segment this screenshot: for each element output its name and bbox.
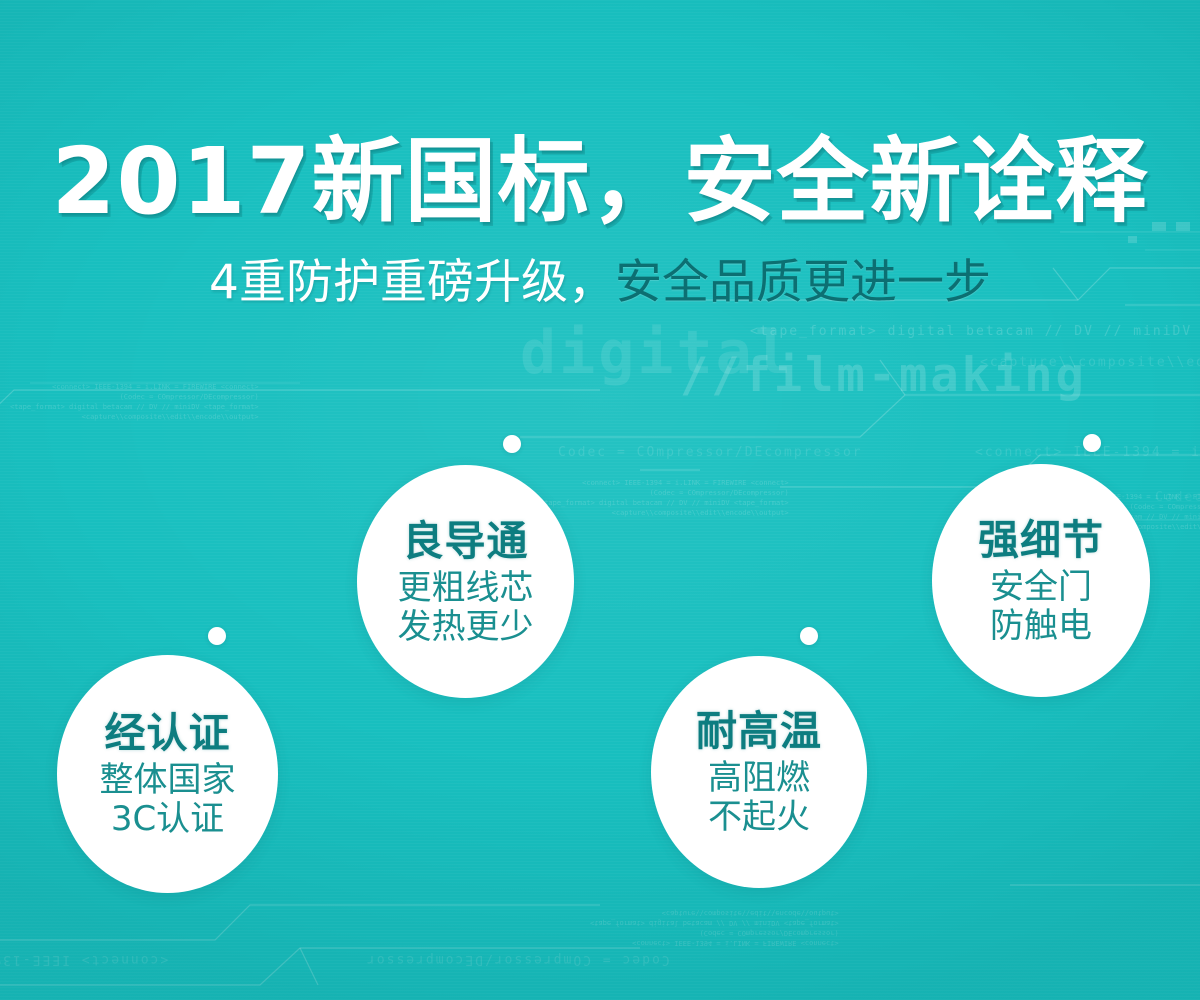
- headline-row: 2017新国标，安全新诠释: [0, 132, 1200, 232]
- feature-line-1: 安全门: [990, 568, 1092, 607]
- bgblock-center: <connect> IEEE-1394 = i.LINK = FIREWIRE …: [540, 478, 789, 518]
- feature-line-2: 不起火: [708, 798, 810, 837]
- feature-line-1: 整体国家: [100, 761, 236, 800]
- bgblock-line: <connect> IEEE-1394 = i.LINK = FIREWIRE …: [10, 382, 259, 392]
- bgblock-line: <tape_format> digital betacam // DV // m…: [540, 498, 789, 508]
- feature-title: 经认证: [105, 709, 231, 757]
- bgtext-capture: <capture\\composite\\edit>: [980, 355, 1200, 370]
- subtitle-row: 4重防护重磅升级，安全品质更进一步: [0, 254, 1200, 312]
- feature-bubble-certification[interactable]: 经认证 整体国家 3C认证: [57, 655, 278, 893]
- feature-line-1: 更粗线芯: [398, 569, 534, 608]
- feature-bubble-details[interactable]: 强细节 安全门 防触电: [932, 464, 1150, 697]
- bgblock-line: (Codec = COmpressor/DEcompressor): [540, 488, 789, 498]
- feature-dot-4: [1083, 434, 1101, 452]
- bgblock-line: <connect> IEEE-1394 = i.LINK = FIREWIRE …: [540, 478, 789, 488]
- feature-line-2: 发热更少: [398, 608, 534, 647]
- feature-dot-1: [208, 627, 226, 645]
- ghost-word-digital: digital: [520, 318, 794, 388]
- feature-title: 强细节: [978, 516, 1104, 564]
- bgblock-line: <connect> IEEE-1394 = i.LINK = FIREWIRE …: [590, 938, 839, 948]
- feature-title: 良导通: [403, 517, 529, 565]
- bgblock-line: (Codec = COmpressor/DEcompressor): [10, 392, 259, 402]
- bgtext-connect-mirrored: <connect> IEEE-1394 = i.LINK = FIREWIRE: [0, 952, 168, 967]
- feature-bubble-conductivity[interactable]: 良导通 更粗线芯 发热更少: [357, 465, 574, 698]
- bgblock-line: (Codec = COmpressor/DEcompressor): [590, 928, 839, 938]
- promo-banner: digital //film-making <tape_format> digi…: [0, 0, 1200, 1000]
- bgblock-top-left: <connect> IEEE-1394 = i.LINK = FIREWIRE …: [10, 382, 259, 422]
- subtitle-part-white: 4重防护重磅升级，: [209, 254, 615, 312]
- feature-dot-2: [503, 435, 521, 453]
- bgtext-codec-mirrored: Codec = COmpressor/DEcompressor: [365, 952, 670, 967]
- bgtext-codec: Codec = COmpressor/DEcompressor: [558, 445, 863, 460]
- page-title: 2017新国标，安全新诠释: [51, 132, 1148, 232]
- feature-dot-3: [800, 627, 818, 645]
- feature-line-2: 防触电: [990, 607, 1092, 646]
- ghost-word-film-making: //film-making: [680, 348, 1087, 403]
- bgblock-line: <capture\\composite\\edit\\encode\\outpu…: [10, 412, 259, 422]
- feature-bubble-heat-resistance[interactable]: 耐高温 高阻燃 不起火: [651, 656, 867, 888]
- bgblock-line: <tape_format> digital betacam // DV // m…: [10, 402, 259, 412]
- bgblock-line: <capture\\composite\\edit\\encode\\outpu…: [540, 508, 789, 518]
- bgtext-tape-format: <tape_format> digital betacam // DV // m…: [750, 324, 1192, 339]
- feature-title: 耐高温: [696, 707, 822, 755]
- bgtext-codec-2: Codec = COmpressor/DEcompressor: [1155, 490, 1200, 505]
- bgblock-line: <tape_format> digital betacam // DV // m…: [590, 918, 839, 928]
- feature-line-1: 高阻燃: [708, 759, 810, 798]
- bgblock-line: <capture\\composite\\edit\\encode\\outpu…: [590, 908, 839, 918]
- subtitle-part-dark: 安全品质更进一步: [615, 254, 991, 312]
- feature-line-2: 3C认证: [111, 800, 224, 839]
- bgblock-bottom-mirrored: <connect> IEEE-1394 = i.LINK = FIREWIRE …: [590, 908, 839, 948]
